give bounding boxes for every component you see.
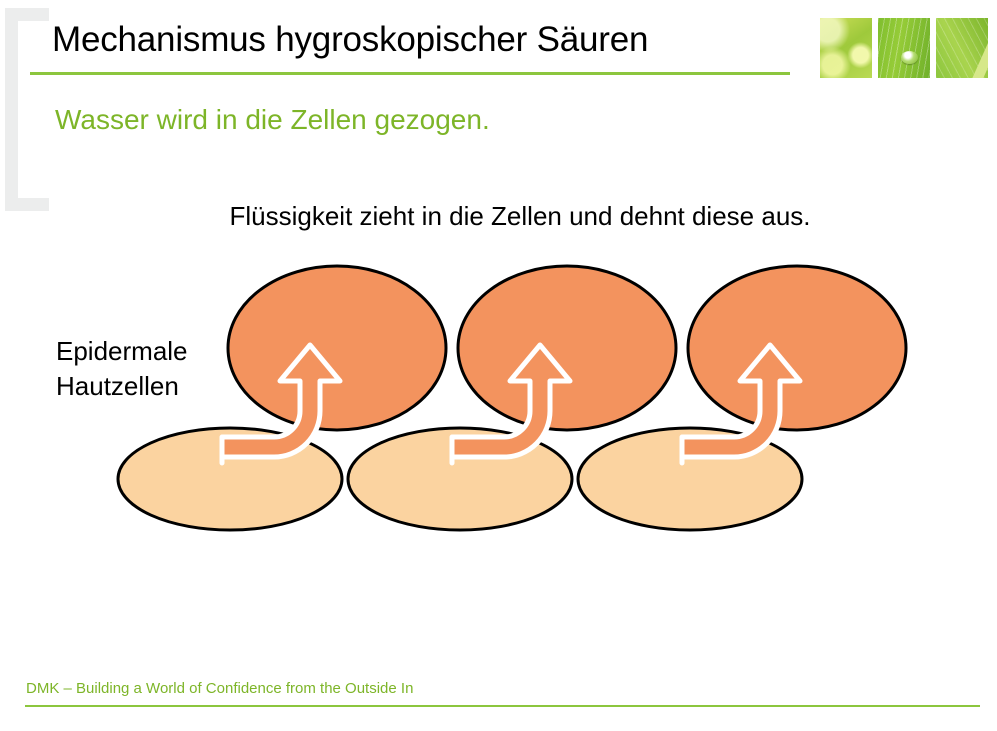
slide-canvas: Mechanismus hygroskopischer Säuren Wasse… (0, 0, 997, 731)
fluid-flow-arrow-3 (682, 345, 800, 463)
upper-cell (688, 266, 906, 430)
diagram-caption: Flüssigkeit zieht in die Zellen und dehn… (180, 198, 860, 234)
water-droplet-icon (901, 51, 918, 64)
leaf-vein-thumbnail (936, 18, 988, 78)
leaf-bokeh-thumbnail (820, 18, 872, 78)
upper-cell (228, 266, 446, 430)
leaf-waterdrop-thumbnail (878, 18, 930, 78)
lower-cell (118, 428, 342, 530)
lower-cell-group (118, 428, 802, 530)
leaf-midrib-icon (966, 18, 988, 78)
decorative-bracket (5, 8, 49, 211)
fluid-flow-arrow-2 (452, 345, 570, 463)
upper-cell (458, 266, 676, 430)
epidermal-cells-label: Epidermale Hautzellen (56, 334, 256, 404)
footer-tagline: DMK – Building a World of Confidence fro… (26, 680, 413, 697)
header-image-strip (820, 18, 988, 78)
slide-subtitle: Wasser wird in die Zellen gezogen. (55, 104, 490, 136)
slide-title: Mechanismus hygroskopischer Säuren (52, 16, 792, 64)
title-underline-rule (30, 72, 790, 75)
lower-cell (348, 428, 572, 530)
upper-cell-group (228, 266, 906, 430)
lower-cell (578, 428, 802, 530)
footer-rule (25, 705, 980, 707)
